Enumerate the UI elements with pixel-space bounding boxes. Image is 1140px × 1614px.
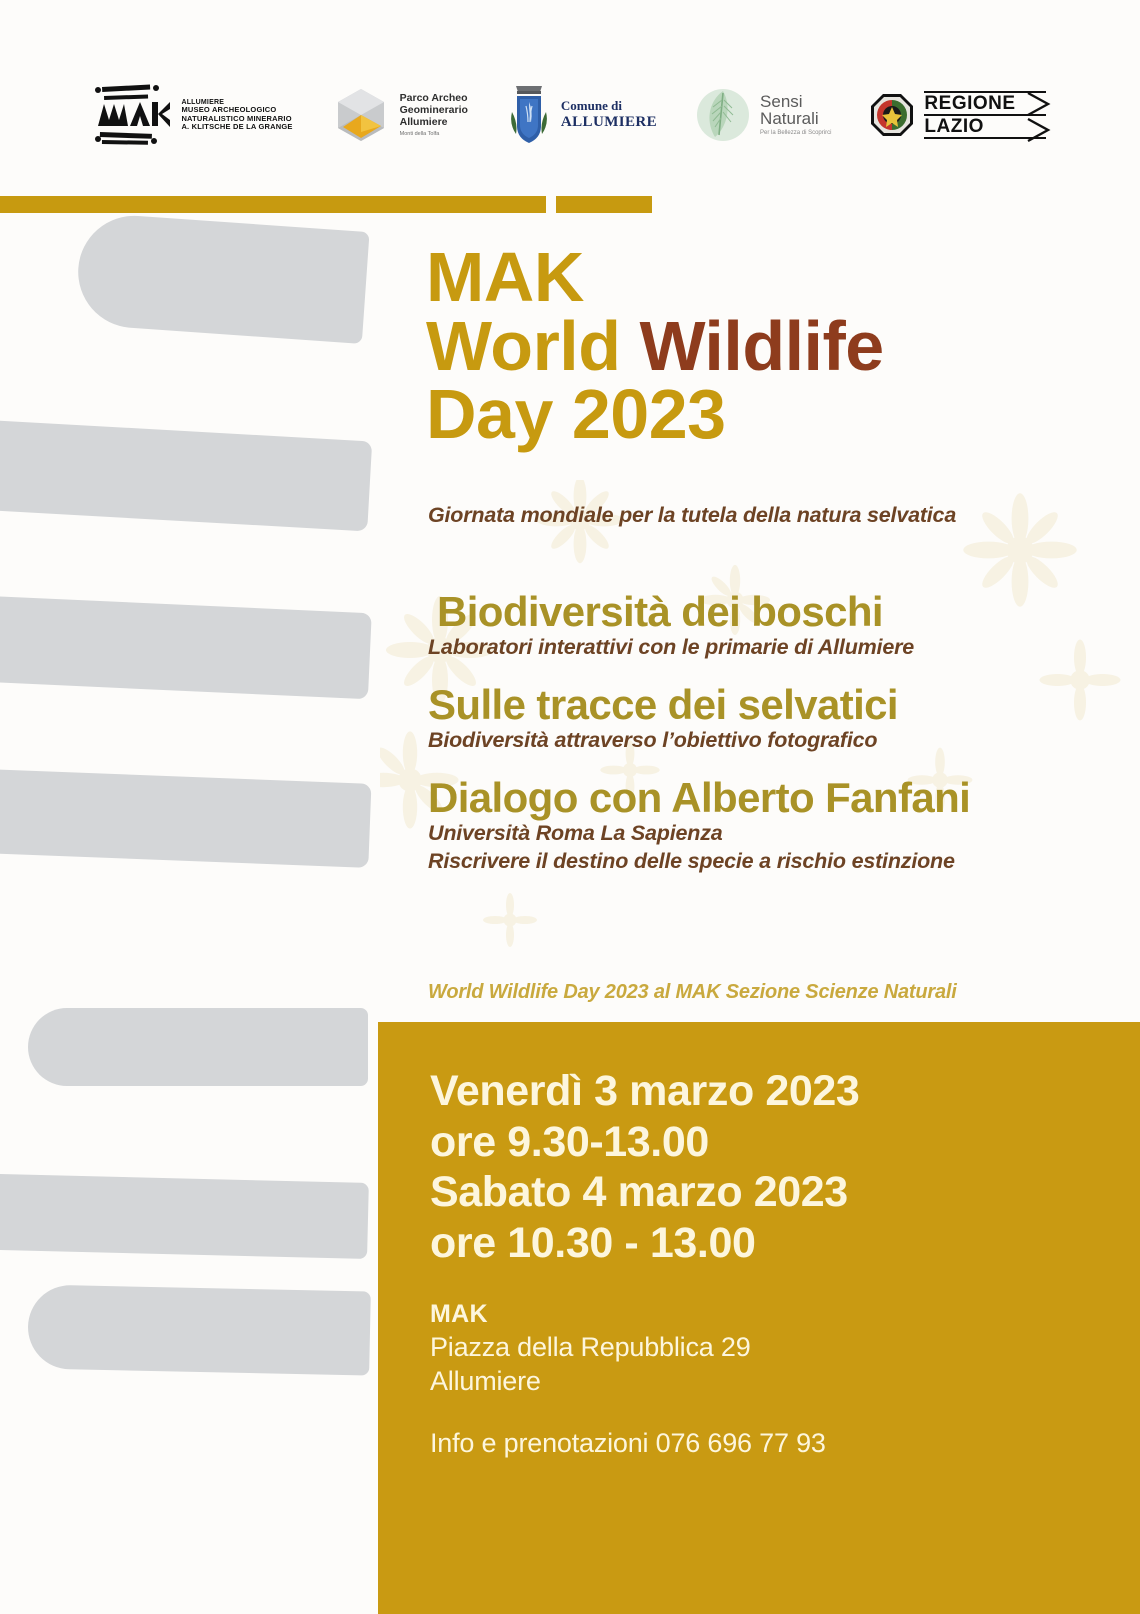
venue-name: MAK [430,1299,1140,1331]
mak-glyph-icon [94,84,172,146]
venue-town: Allumiere [430,1364,1140,1398]
logo-sensi-subtitle: Per la Bellezza di Scoprirci [760,130,831,137]
logo-comune-line-1: Comune di [561,99,657,114]
programme-item: Biodiversità dei boschi Laboratori inter… [428,590,1118,661]
logo-comune-text: Comune di ALLUMIERE [561,99,657,130]
event-info-inner: Venerdì 3 marzo 2023 ore 9.30-13.00 Saba… [378,1022,1140,1459]
contact-info: Info e prenotazioni 076 696 77 93 [430,1428,1140,1459]
programme-item-title: Dialogo con Alberto Fanfani [428,776,1118,820]
venue-street: Piazza della Repubblica 29 [430,1330,1140,1364]
event-info-block: Venerdì 3 marzo 2023 ore 9.30-13.00 Saba… [378,1022,1140,1614]
event-date-saturday: Sabato 4 marzo 2023 [430,1167,1140,1218]
programme-closing-line: World Wildlife Day 2023 al MAK Sezione S… [428,981,1128,1004]
logo-parco-archeo-geominerario: Parco Archeo Geominerario Allumiere Mont… [331,86,468,144]
programme-item-title: Biodiversità dei boschi [428,590,1118,634]
event-time-friday: ore 9.30-13.00 [430,1117,1140,1168]
programme-item-title: Sulle tracce dei selvatici [428,683,1118,727]
poster-canvas: ALLUMIERE MUSEO ARCHEOLOGICO NATURALISTI… [0,0,1140,1614]
headline-wildlife: Wildlife [639,307,883,385]
decor-brush-bar [0,419,372,532]
comune-crest-icon [506,82,552,148]
regione-lazio-emblem-icon [869,92,915,138]
logo-parco-line-3: Allumiere [400,117,468,129]
logo-regione-lazio: REGIONE LAZIO [869,91,1045,140]
logo-comune-allumiere: Comune di ALLUMIERE [506,82,657,148]
logo-sensi-naturali: Sensi Naturali Per la Bellezza di Scopri… [695,87,831,143]
event-venue: MAK Piazza della Repubblica 29 Allumiere [430,1299,1140,1399]
logo-mak: ALLUMIERE MUSEO ARCHEOLOGICO NATURALISTI… [94,84,292,146]
logo-mak-text: ALLUMIERE MUSEO ARCHEOLOGICO NATURALISTI… [181,99,292,132]
programme-item-subtitle: Laboratori interattivi con le primarie d… [428,634,1118,662]
decor-brush-bar [0,768,371,868]
gold-divider-rule-segment [556,196,652,213]
logo-parco-subtitle: Monti della Tolfa [400,131,468,137]
gold-divider-rule [0,196,546,213]
programme-list: Biodiversità dei boschi Laboratori inter… [428,590,1118,897]
logo-sensi-line-1: Sensi [760,93,831,110]
event-dates: Venerdì 3 marzo 2023 ore 9.30-13.00 Saba… [430,1066,1140,1269]
poster-headline: MAK World Wildlife Day 2023 [426,243,1106,449]
programme-item-subtitle: Università Roma La Sapienza [428,820,1118,848]
logo-sensi-text: Sensi Naturali Per la Bellezza di Scopri… [760,93,831,137]
headline-world: World [426,307,639,385]
headline-line-3: Day 2023 [426,380,1106,449]
logo-comune-line-2: ALLUMIERE [561,114,657,131]
logo-sensi-line-2: Naturali [760,110,831,127]
sponsor-logo-strip: ALLUMIERE MUSEO ARCHEOLOGICO NATURALISTI… [0,60,1140,170]
logo-lazio-text: REGIONE LAZIO [924,91,1045,140]
programme-item: Sulle tracce dei selvatici Biodiversità … [428,683,1118,754]
headline-line-2: World Wildlife [426,312,1106,381]
decor-brush-bar [0,595,372,700]
parco-hexagon-icon [331,86,391,144]
programme-item-subtitle: Riscrivere il destino delle specie a ris… [428,848,1118,876]
event-time-saturday: ore 10.30 - 13.00 [430,1218,1140,1269]
logo-mak-line-4: A. KLITSCHE DE LA GRANGE [181,123,292,131]
decor-brush-bar [27,1284,371,1375]
decor-brush-bar [0,1173,369,1259]
decor-brush-bar [74,212,369,344]
programme-item: Dialogo con Alberto Fanfani Università R… [428,776,1118,875]
logo-parco-text: Parco Archeo Geominerario Allumiere Mont… [400,93,468,136]
lazio-arrow-icon [1026,91,1052,143]
event-date-friday: Venerdì 3 marzo 2023 [430,1066,1140,1117]
leaf-circle-icon [695,87,751,143]
headline-line-1: MAK [426,243,1106,312]
poster-tagline: Giornata mondiale per la tutela della na… [428,503,1128,528]
programme-item-subtitle: Biodiversità attraverso l’obiettivo foto… [428,727,1118,755]
decor-brush-bar [28,1008,368,1086]
